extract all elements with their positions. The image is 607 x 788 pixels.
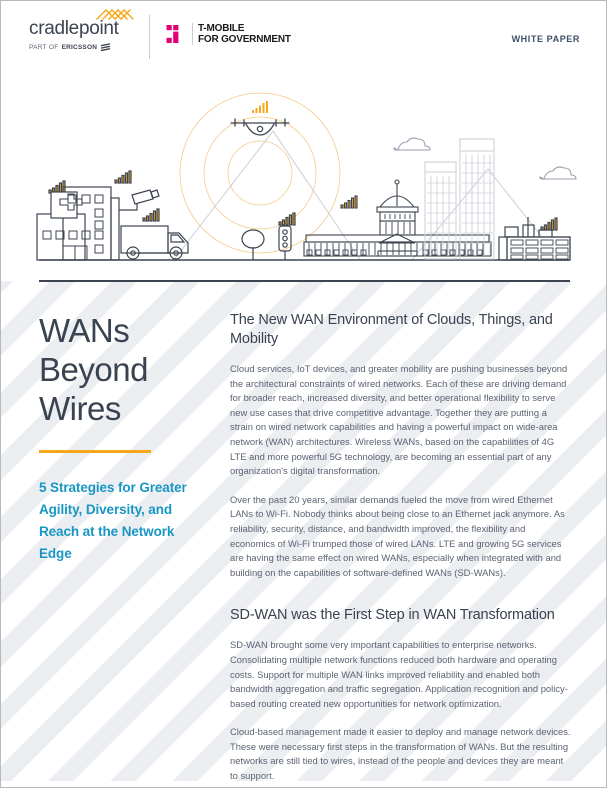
t-mobile-text: T-MOBILE FOR GOVERNMENT: [198, 23, 291, 45]
white-paper-page: cradlepoint PART OF: [0, 0, 607, 788]
signal-rings: [180, 93, 340, 253]
t-mobile-bar-divider: [192, 23, 193, 45]
cradlepoint-wordmark: cradlepoint: [29, 19, 137, 38]
section-2-paragraph-2: Cloud-based management made it easier to…: [230, 725, 572, 783]
t-mobile-line2: FOR GOVERNMENT: [198, 34, 291, 45]
office-building-icon: [499, 217, 570, 260]
skyscraper-icon: [425, 139, 494, 259]
title-accent-rule: [39, 450, 151, 453]
part-of-label: PART OF: [29, 44, 59, 51]
page-title: WANs Beyond Wires: [39, 311, 209, 428]
security-camera-icon: [115, 171, 159, 210]
section-heading-2: SD-WAN was the First Step in WAN Transfo…: [230, 606, 572, 625]
tree-icon: [242, 230, 264, 260]
t-mobile-line1: T-MOBILE: [198, 23, 291, 34]
t-mobile-for-government-logo[interactable]: T-MOBILE FOR GOVERNMENT: [165, 23, 291, 45]
t-mobile-t-icon: [165, 23, 187, 45]
cradlepoint-roof-icon: [95, 8, 135, 20]
section-heading-1: The New WAN Environment of Clouds, Thing…: [230, 311, 572, 349]
title-column: WANs Beyond Wires 5 Strategies for Great…: [39, 311, 209, 565]
page-subtitle: 5 Strategies for Greater Agility, Divers…: [39, 477, 209, 565]
traffic-light-icon: [279, 213, 295, 260]
header-divider: [149, 15, 150, 59]
ericsson-wordmark: ERICSSON: [62, 44, 98, 51]
hospital-building-icon: [37, 181, 119, 260]
cradlepoint-logo[interactable]: cradlepoint PART OF: [29, 19, 137, 52]
section-1-paragraph-1: Cloud services, IoT devices, and greater…: [230, 362, 572, 479]
delivery-truck-icon: [121, 209, 188, 259]
content-column: The New WAN Environment of Clouds, Thing…: [230, 311, 572, 788]
ericsson-logo-icon: [100, 43, 111, 52]
drone-icon: [231, 101, 289, 135]
document-type-label: WHITE PAPER: [512, 34, 580, 44]
hero-illustration: [1, 61, 607, 266]
header-body-separator-rule: [39, 280, 570, 282]
section-1-paragraph-2: Over the past 20 years, similar demands …: [230, 493, 572, 581]
page-footer: ©Cradlepoint. All Rights Reserved. | cra…: [1, 0, 607, 1]
section-2-paragraph-1: SD-WAN brought some very important capab…: [230, 638, 572, 711]
cradlepoint-parent-brand: PART OF ERICSSON: [29, 43, 137, 52]
